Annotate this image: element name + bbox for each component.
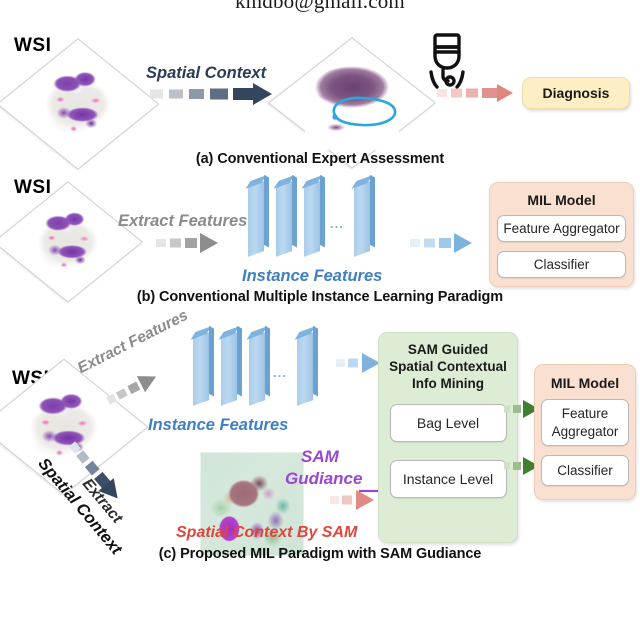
arrow-dash-1 (410, 239, 420, 247)
arrow-dash-2 (116, 388, 128, 399)
bar-face (354, 181, 370, 257)
cropped-email-text: kmdbo@gmail.com (0, 0, 640, 13)
arrow-dash-1 (437, 89, 447, 97)
slide-tissue (34, 60, 122, 148)
arrow-dash-1 (150, 90, 163, 99)
arrow-head (454, 233, 472, 253)
classifier-box[interactable]: Classifier (541, 455, 629, 486)
arrow-dash-2 (513, 462, 521, 470)
bar-face (304, 181, 320, 257)
diagnosis-label: Diagnosis (543, 85, 610, 101)
mil-model-title: MIL Model (551, 375, 619, 391)
doctor-icon (418, 30, 476, 90)
arrow-dash-1 (504, 463, 510, 470)
tissue-he-stain (27, 201, 109, 283)
sam-guided-mining-box: SAM Guided Spatial Contextual Info Minin… (378, 332, 518, 543)
panel-a-caption: (a) Conventional Expert Assessment (0, 151, 640, 167)
feature-aggregator-label-line1: Feature (562, 405, 609, 423)
bar-face (297, 332, 313, 406)
panel-b-extract-features-arrow (156, 234, 228, 252)
bar-side (292, 175, 297, 248)
bar-face (193, 332, 209, 406)
panel-b-instance-features-group: ... (238, 184, 398, 260)
bar-side (209, 326, 214, 397)
arrow-dash-3 (85, 461, 100, 476)
arrow-dash-3 (189, 89, 204, 99)
feature-bars-ellipsis: ... (330, 216, 344, 231)
feature-bar (297, 332, 313, 406)
mining-box-title-line1: SAM Guided (408, 341, 488, 358)
panel-b-mil-model-box: MIL Model Feature Aggregator Classifier (489, 182, 634, 287)
feature-aggregator-label: Feature Aggregator (503, 221, 619, 236)
arrow-dash-3 (466, 89, 478, 98)
arrow-dash-2 (348, 359, 358, 368)
feature-aggregator-box[interactable]: Feature Aggregator (497, 215, 626, 242)
panel-b-wsi-label: WSI (14, 177, 51, 199)
arrow-dash-1 (336, 359, 345, 367)
feature-bar (354, 181, 370, 257)
panel-c-features-label: Instance Features (148, 416, 288, 435)
feature-bar (304, 181, 320, 257)
feature-aggregator-label-line2: Aggregator (552, 423, 619, 441)
bar-side (265, 326, 270, 397)
tissue-edge (34, 60, 122, 148)
panel-c-mil-model-box: MIL Model Feature Aggregator Classifier (534, 364, 636, 500)
arrow-dash-2 (424, 239, 435, 248)
classifier-box[interactable]: Classifier (497, 251, 626, 278)
arrow-dash-2 (451, 89, 462, 98)
arrow-dash-2 (169, 90, 183, 99)
instance-level-label: Instance Level (403, 471, 493, 487)
panel-c-sam-slide-label: Spatial Context By SAM (176, 524, 357, 542)
panel-c-extract-features-label: Extract Features (75, 307, 191, 378)
bar-face (248, 181, 264, 257)
slide-tissue (27, 201, 109, 283)
arrow-dash-2 (76, 450, 89, 463)
arrow-head (497, 84, 513, 102)
arrow-dash-1 (156, 239, 166, 247)
arrow-dash-3 (127, 382, 140, 395)
panel-c-caption: (c) Proposed MIL Paradigm with SAM Gudia… (0, 546, 640, 562)
arrow-dash-1 (330, 496, 339, 504)
feature-bar (193, 332, 209, 406)
panel-a: WSI Spatial Context (0, 26, 640, 166)
feature-bar (249, 332, 265, 406)
bar-face (276, 181, 292, 257)
panel-a-wsi-label: WSI (14, 35, 51, 57)
arrow-dash-3 (439, 238, 451, 248)
classifier-label: Classifier (534, 257, 590, 272)
diagnosis-box[interactable]: Diagnosis (522, 77, 630, 109)
arrow-dash-4 (210, 89, 228, 100)
bar-side (237, 326, 242, 397)
bar-face (221, 332, 237, 406)
arrow-dash-1 (504, 406, 510, 413)
feature-bar (276, 181, 292, 257)
panel-b-features-label: Instance Features (242, 267, 382, 286)
bag-level-label: Bag Level (417, 415, 479, 431)
panel-c: WSI Extract Features Extract Spatial Con… (0, 313, 640, 569)
mining-box-title-line3: Info Mining (412, 375, 484, 392)
arrow-dash-2 (513, 405, 521, 413)
feature-bar (248, 181, 264, 257)
feature-aggregator-box[interactable]: Feature Aggregator (541, 399, 629, 446)
panel-a-diagnosis-arrow (437, 84, 527, 102)
panel-b: WSI Extract Features ... (0, 172, 640, 307)
arrow-dash-3 (185, 238, 197, 248)
feature-bars-ellipsis: ... (273, 365, 287, 380)
cyan-annotation-outline (322, 91, 402, 133)
panel-a-arrow-label: Spatial Context (146, 64, 266, 83)
classifier-label: Classifier (557, 463, 613, 478)
bar-side (313, 326, 318, 397)
arrow-head (200, 233, 218, 253)
bag-level-box[interactable]: Bag Level (390, 404, 507, 442)
bar-side (320, 175, 325, 248)
bar-side (264, 175, 269, 248)
arrow-dash-2 (342, 496, 352, 505)
bar-side (370, 175, 375, 248)
panel-b-wsi-slide (0, 181, 143, 302)
feature-bar (221, 332, 237, 406)
panel-c-sam-guidance-line1: SAM (301, 447, 339, 467)
panel-b-arrow-label: Extract Features (118, 212, 247, 231)
mining-box-title-line2: Spatial Contextual (389, 358, 507, 375)
panel-c-sam-guidance-line2: Gudiance (285, 469, 362, 489)
panel-b-caption: (b) Conventional Multiple Instance Learn… (0, 289, 640, 305)
arrow-dash-2 (170, 239, 181, 248)
mil-model-title: MIL Model (527, 192, 595, 208)
bar-face (249, 332, 265, 406)
instance-level-box[interactable]: Instance Level (390, 460, 507, 498)
panel-a-spatial-context-arrow (150, 84, 278, 104)
panel-c-instance-features-group: ... (185, 335, 355, 411)
panel-b-to-mil-arrow (410, 234, 482, 252)
panel-c-extract-features-arrow (104, 364, 170, 408)
